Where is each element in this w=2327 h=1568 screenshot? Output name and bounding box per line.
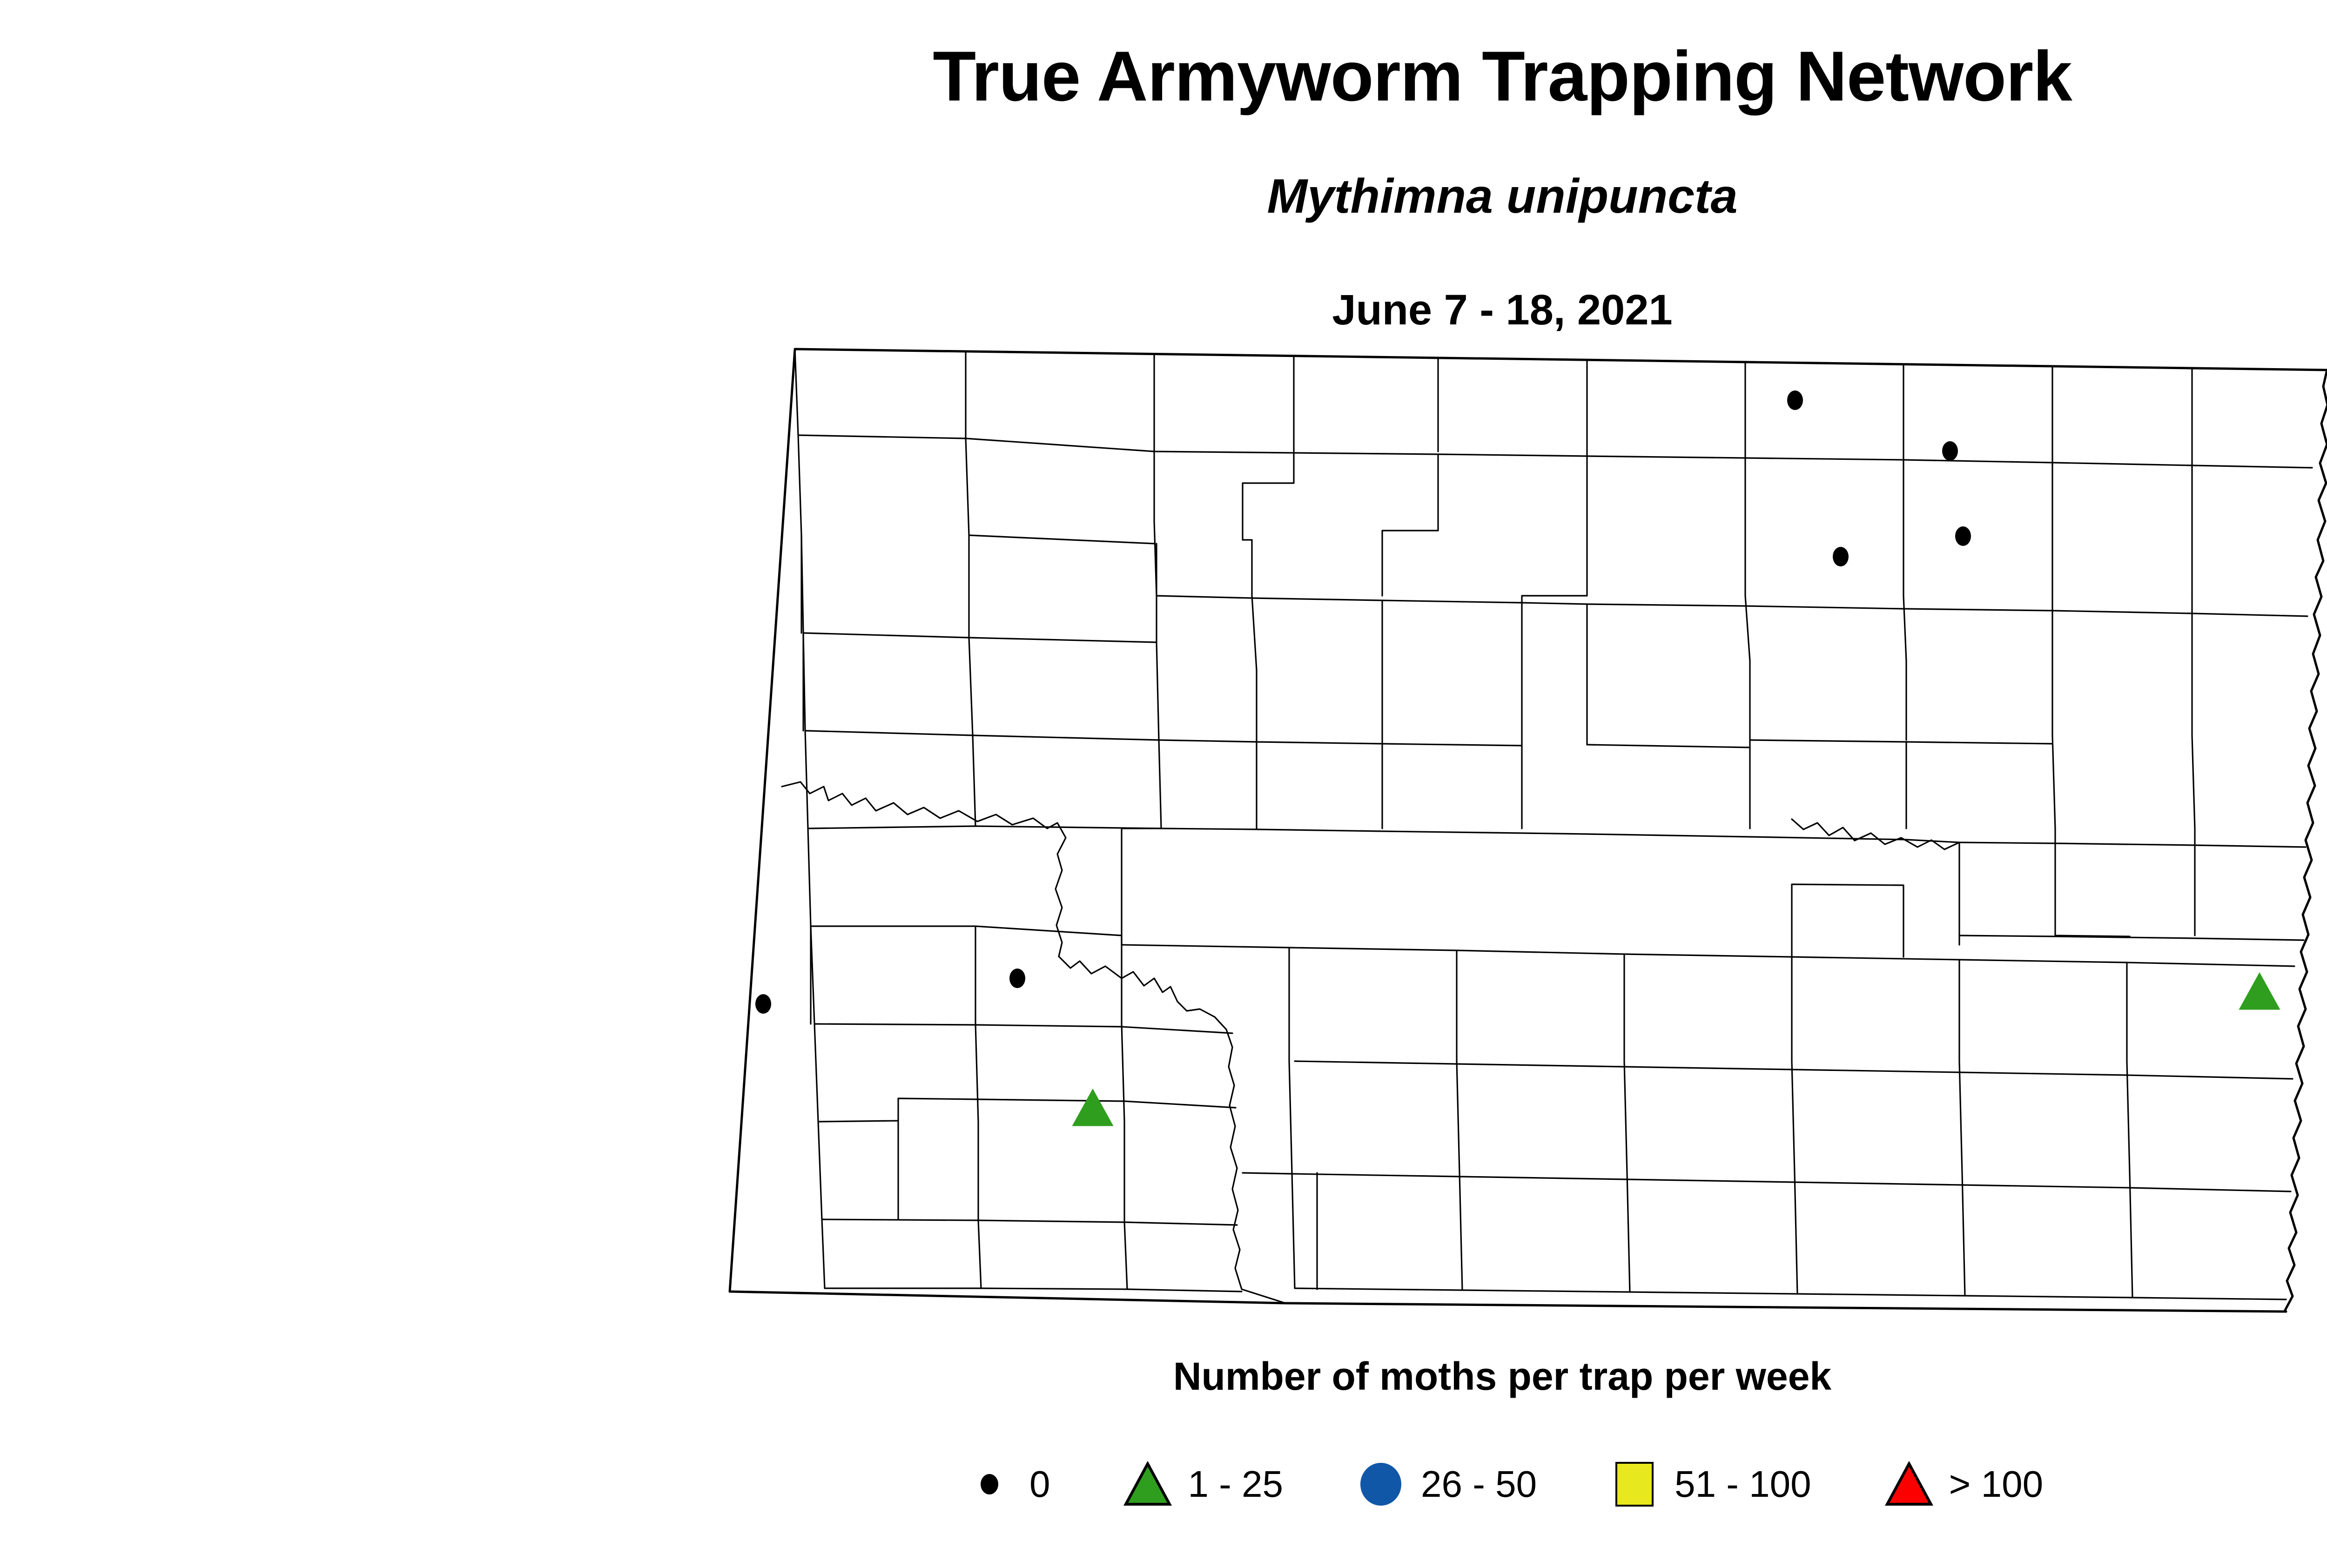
species-subtitle: Mythimna unipuncta <box>0 172 2327 221</box>
legend-symbol-circle-blue <box>1353 1463 1409 1506</box>
trap-marker-dot <box>1009 969 1025 988</box>
map-svg <box>712 335 2327 1331</box>
state-outline <box>730 349 2327 1312</box>
legend-item-4: > 100 <box>1881 1461 2043 1507</box>
figure-canvas: True Armyworm Trapping Network Mythimna … <box>0 0 2327 1568</box>
legend-symbol-dot <box>962 1474 1017 1494</box>
legend-item-1: 1 - 25 <box>1120 1461 1283 1507</box>
legend-label-1: 1 - 25 <box>1188 1466 1283 1503</box>
trap-marker-dot <box>1942 441 1958 461</box>
legend-symbol-triangle-green <box>1120 1461 1176 1507</box>
legend-title: Number of moths per trap per week <box>0 1357 2327 1396</box>
trap-marker-triangle-green <box>2238 972 2281 1013</box>
trap-marker-dot <box>1787 390 1803 410</box>
legend-label-2: 26 - 50 <box>1421 1466 1537 1503</box>
trap-marker-triangle-green <box>1071 1088 1114 1130</box>
trap-marker-dot <box>1833 547 1849 566</box>
trap-marker-dot <box>755 994 771 1014</box>
legend-label-0: 0 <box>1029 1466 1050 1503</box>
legend-item-3: 51 - 100 <box>1607 1462 1811 1507</box>
trap-marker-dot <box>1955 526 1971 546</box>
north-dakota-map <box>712 335 2327 1331</box>
page-title: True Armyworm Trapping Network <box>0 41 2327 112</box>
legend-item-2: 26 - 50 <box>1353 1463 1537 1506</box>
legend: 0 1 - 25 26 - 50 51 - 100 <box>0 1461 2327 1507</box>
legend-label-4: > 100 <box>1949 1466 2043 1503</box>
date-range-label: June 7 - 18, 2021 <box>0 289 2327 331</box>
legend-symbol-triangle-red <box>1881 1461 1937 1507</box>
legend-label-3: 51 - 100 <box>1675 1466 1811 1503</box>
legend-item-0: 0 <box>962 1466 1050 1503</box>
legend-symbol-square-yellow <box>1607 1462 1662 1507</box>
